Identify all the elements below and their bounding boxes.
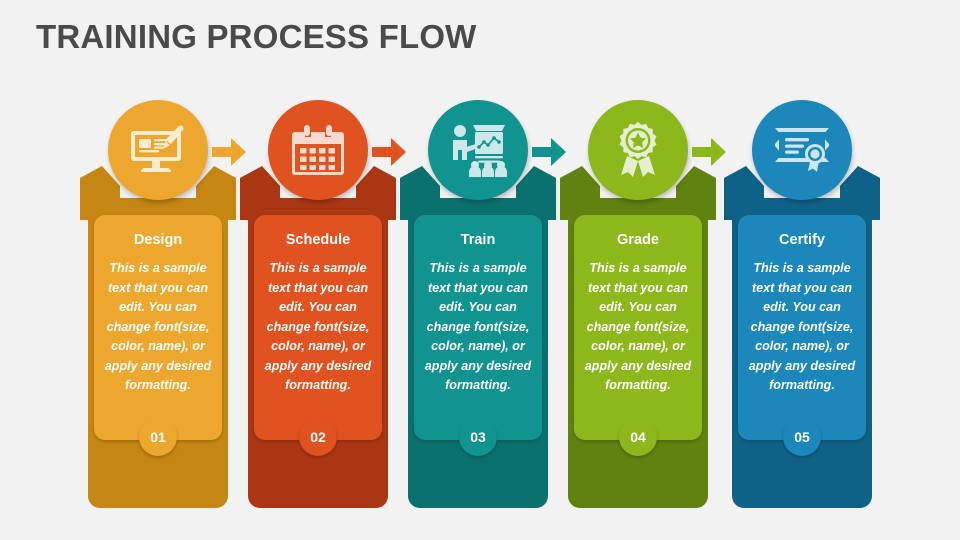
- step-number-badge: 02: [299, 418, 337, 456]
- step-card[interactable]: Certify This is a sample text that you c…: [738, 215, 866, 440]
- step-title: Design: [94, 232, 222, 248]
- step-card[interactable]: Schedule This is a sample text that you …: [254, 215, 382, 440]
- arrow-right-icon: [372, 138, 406, 166]
- arrow-right-icon: [532, 138, 566, 166]
- step-body-text: This is a sample text that you can edit.…: [421, 259, 535, 396]
- step-card[interactable]: Grade This is a sample text that you can…: [574, 215, 702, 440]
- step-number-badge: 03: [459, 418, 497, 456]
- slide-canvas: TRAINING PROCESS FLOW Design This is a s…: [0, 0, 960, 540]
- monitor-paintbrush-icon[interactable]: [108, 100, 208, 200]
- step-number-badge: 05: [783, 418, 821, 456]
- step-title: Schedule: [254, 232, 382, 248]
- flow-arrow-2: [372, 138, 406, 166]
- flow-arrow-4: [692, 138, 726, 166]
- presenter-board-icon[interactable]: [428, 100, 528, 200]
- step-body-text: This is a sample text that you can edit.…: [581, 259, 695, 396]
- calendar-icon[interactable]: [268, 100, 368, 200]
- certificate-seal-icon[interactable]: [752, 100, 852, 200]
- award-ribbon-icon[interactable]: [588, 100, 688, 200]
- process-step-05[interactable]: Certify This is a sample text that you c…: [722, 100, 882, 465]
- flow-arrow-1: [212, 138, 246, 166]
- step-body-text: This is a sample text that you can edit.…: [261, 259, 375, 396]
- step-number-badge: 01: [139, 418, 177, 456]
- step-card[interactable]: Design This is a sample text that you ca…: [94, 215, 222, 440]
- step-title: Train: [414, 232, 542, 248]
- arrow-right-icon: [212, 138, 246, 166]
- step-number-badge: 04: [619, 418, 657, 456]
- page-title: TRAINING PROCESS FLOW: [36, 18, 477, 56]
- step-title: Grade: [574, 232, 702, 248]
- step-card[interactable]: Train This is a sample text that you can…: [414, 215, 542, 440]
- step-body-text: This is a sample text that you can edit.…: [745, 259, 859, 396]
- step-title: Certify: [738, 232, 866, 248]
- step-body-text: This is a sample text that you can edit.…: [101, 259, 215, 396]
- arrow-right-icon: [692, 138, 726, 166]
- flow-arrow-3: [532, 138, 566, 166]
